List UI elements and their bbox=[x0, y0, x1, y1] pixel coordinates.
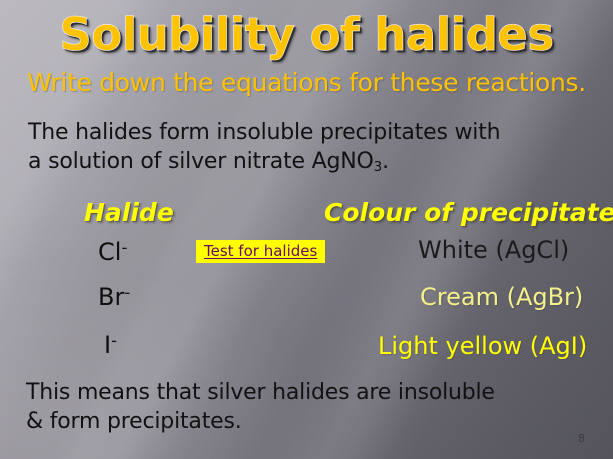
intro-paragraph: The halides form insoluble precipitates … bbox=[28, 118, 598, 176]
closing-paragraph: This means that silver halides are insol… bbox=[26, 378, 596, 436]
closing-line-2: & form precipitates. bbox=[26, 409, 242, 434]
precipitate-result-chloride: White (AgCl) bbox=[418, 236, 569, 264]
intro-line-1: The halides form insoluble precipitates … bbox=[28, 120, 500, 145]
ion-charge: - bbox=[121, 238, 127, 257]
table-row-iodide-ion: I- bbox=[104, 331, 117, 359]
intro-line-2-text: a solution of silver nitrate AgNO bbox=[28, 149, 374, 174]
presentation-slide: Solubility of halides Write down the equ… bbox=[0, 0, 613, 459]
page-title: Solubility of halides bbox=[0, 8, 613, 61]
slide-subtitle: Write down the equations for these react… bbox=[0, 68, 613, 97]
test-for-halides-link-label[interactable]: Test for halides bbox=[204, 242, 317, 260]
precipitate-result-bromide: Cream (AgBr) bbox=[420, 283, 583, 311]
table-row-bromide-ion: Br- bbox=[98, 283, 130, 311]
slide-number: 8 bbox=[578, 432, 585, 445]
intro-line-2-period: . bbox=[382, 149, 389, 174]
column-header-halide: Halide bbox=[84, 198, 174, 227]
closing-line-1: This means that silver halides are insol… bbox=[26, 380, 495, 405]
column-header-colour-of-precipitate: Colour of precipitate bbox=[324, 198, 613, 227]
precipitate-result-iodide: Light yellow (AgI) bbox=[378, 332, 587, 360]
subscript-three: 3 bbox=[374, 159, 382, 175]
ion-charge: - bbox=[111, 331, 117, 350]
ion-symbol: Br bbox=[98, 283, 124, 311]
ion-charge: - bbox=[124, 283, 130, 302]
table-row-chloride-ion: Cl- bbox=[98, 238, 127, 266]
test-for-halides-hyperlink-box[interactable]: Test for halides bbox=[196, 240, 325, 263]
ion-symbol: Cl bbox=[98, 238, 121, 266]
